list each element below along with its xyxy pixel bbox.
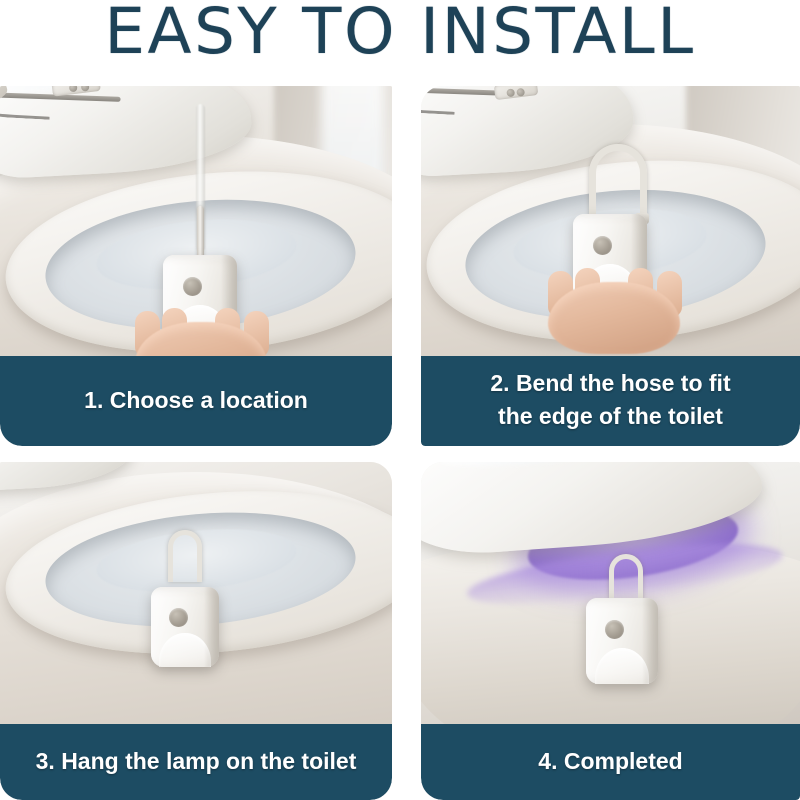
- step-4-caption: 4. Completed: [421, 724, 800, 800]
- caption-line: 4. Completed: [538, 745, 682, 778]
- step-panel-3: 3. Hang the lamp on the toilet: [0, 462, 392, 800]
- device-hose-hooked: [168, 530, 202, 582]
- palm: [548, 282, 680, 354]
- page-title: EASY TO INSTALL: [0, 0, 800, 62]
- caption-line: the edge of the toilet: [498, 400, 723, 433]
- step-2-caption: 2. Bend the hose to fit the edge of the …: [421, 356, 800, 446]
- caption-line: 2. Bend the hose to fit: [490, 367, 730, 400]
- step-2-photo: [421, 86, 800, 356]
- device-edge-shading: [642, 598, 658, 684]
- install-steps-grid: 1. Choose a location: [0, 86, 800, 800]
- seat-cable: [0, 93, 50, 119]
- step-4-photo: [421, 462, 800, 724]
- seat-hinge-plate: [493, 86, 537, 101]
- hand: [126, 308, 276, 356]
- toilet-night-light-device: [586, 598, 658, 684]
- toilet-night-light-device: [151, 587, 219, 667]
- motion-sensor-icon: [605, 620, 624, 639]
- seat-cable: [421, 89, 456, 115]
- step-panel-2: 2. Bend the hose to fit the edge of the …: [421, 86, 800, 446]
- hand: [539, 268, 689, 354]
- device-edge-shading: [204, 587, 219, 667]
- caption-line: 1. Choose a location: [84, 384, 308, 417]
- motion-sensor-icon: [169, 608, 188, 627]
- step-3-caption: 3. Hang the lamp on the toilet: [0, 724, 392, 800]
- caption-line: 3. Hang the lamp on the toilet: [36, 745, 357, 778]
- step-3-photo: [0, 462, 392, 724]
- motion-sensor-icon: [593, 236, 612, 255]
- step-panel-1: 1. Choose a location: [0, 86, 392, 446]
- motion-sensor-icon: [183, 277, 202, 296]
- step-panel-4: 4. Completed: [421, 462, 800, 800]
- lid-highlight: [439, 462, 607, 470]
- step-1-photo: [0, 86, 392, 356]
- device-hose-hooked: [609, 554, 643, 600]
- light-diffuser: [595, 648, 650, 684]
- device-hose-bent: [589, 144, 647, 220]
- step-1-caption: 1. Choose a location: [0, 356, 392, 446]
